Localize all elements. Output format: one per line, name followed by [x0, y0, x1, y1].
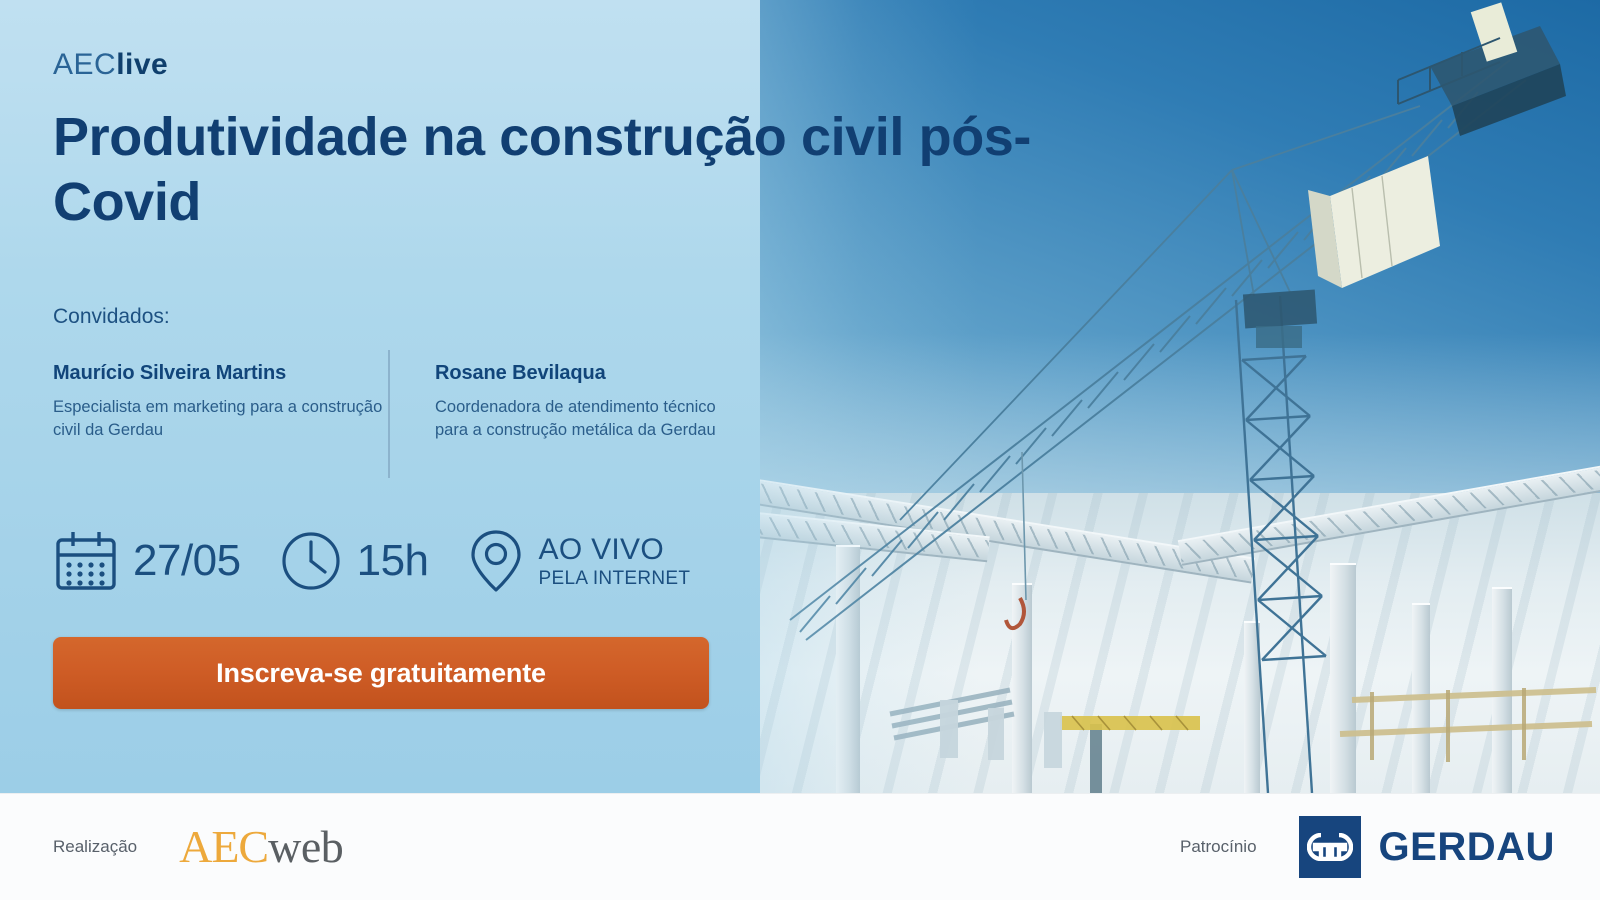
- hero-content: AEClive Produtividade na construção civi…: [0, 0, 900, 793]
- event-banner: AEClive Produtividade na construção civi…: [0, 0, 1600, 900]
- speakers-divider: [388, 350, 390, 478]
- aecweb-logo-part1: AEC: [179, 821, 268, 872]
- calendar-icon: [53, 528, 119, 594]
- speaker-name: Maurício Silveira Martins: [53, 362, 391, 385]
- sponsor-block: Patrocínio GERDAU: [1180, 816, 1555, 878]
- speaker-card: Maurício Silveira Martins Especialista e…: [53, 362, 391, 443]
- event-place-text: AO VIVO PELA INTERNET: [539, 535, 691, 588]
- concrete-column: [1012, 583, 1032, 793]
- gerdau-wordmark: GERDAU: [1379, 825, 1555, 870]
- footer-bar: Realização AECweb Patrocínio GERDAU: [0, 793, 1600, 900]
- speaker-role: Coordenadora de atendimento técnico para…: [435, 396, 729, 443]
- aeclive-logo-prefix: AEC: [53, 48, 116, 81]
- realization-label: Realização: [53, 837, 137, 857]
- event-date: 27/05: [53, 528, 241, 594]
- aeclive-logo-suffix: live: [116, 48, 168, 81]
- aeclive-logo: AEClive: [53, 48, 168, 82]
- page-title: Produtividade na construção civil pós-Co…: [53, 105, 1093, 235]
- event-place-line1: AO VIVO: [539, 535, 691, 565]
- speaker-name: Rosane Bevilaqua: [435, 362, 729, 385]
- aecweb-logo-part2: web: [268, 821, 343, 872]
- speaker-role: Especialista em marketing para a constru…: [53, 396, 391, 443]
- gerdau-gg-icon: [1307, 833, 1353, 861]
- register-button[interactable]: Inscreva-se gratuitamente: [53, 637, 709, 709]
- concrete-column: [1412, 603, 1430, 793]
- speakers-list: Maurício Silveira Martins Especialista e…: [53, 362, 843, 443]
- aecweb-logo[interactable]: AECweb: [179, 824, 343, 870]
- event-place: AO VIVO PELA INTERNET: [467, 528, 691, 594]
- event-place-line2: PELA INTERNET: [539, 569, 691, 588]
- concrete-column: [1492, 587, 1512, 793]
- gerdau-mark: [1299, 816, 1361, 878]
- speaker-card: Rosane Bevilaqua Coordenadora de atendim…: [391, 362, 729, 443]
- realization-block: Realização AECweb: [53, 824, 343, 870]
- concrete-column: [1244, 621, 1260, 793]
- location-pin-icon: [467, 528, 525, 594]
- sponsor-label: Patrocínio: [1180, 837, 1257, 857]
- event-date-value: 27/05: [133, 536, 241, 586]
- event-time-value: 15h: [357, 536, 429, 586]
- hero-section: AEClive Produtividade na construção civi…: [0, 0, 1600, 793]
- concrete-column: [1330, 563, 1356, 793]
- event-time: 15h: [279, 529, 429, 593]
- guests-label: Convidados:: [53, 305, 170, 329]
- gerdau-logo[interactable]: GERDAU: [1299, 816, 1555, 878]
- clock-icon: [279, 529, 343, 593]
- event-info-row: 27/05 15h: [53, 528, 690, 594]
